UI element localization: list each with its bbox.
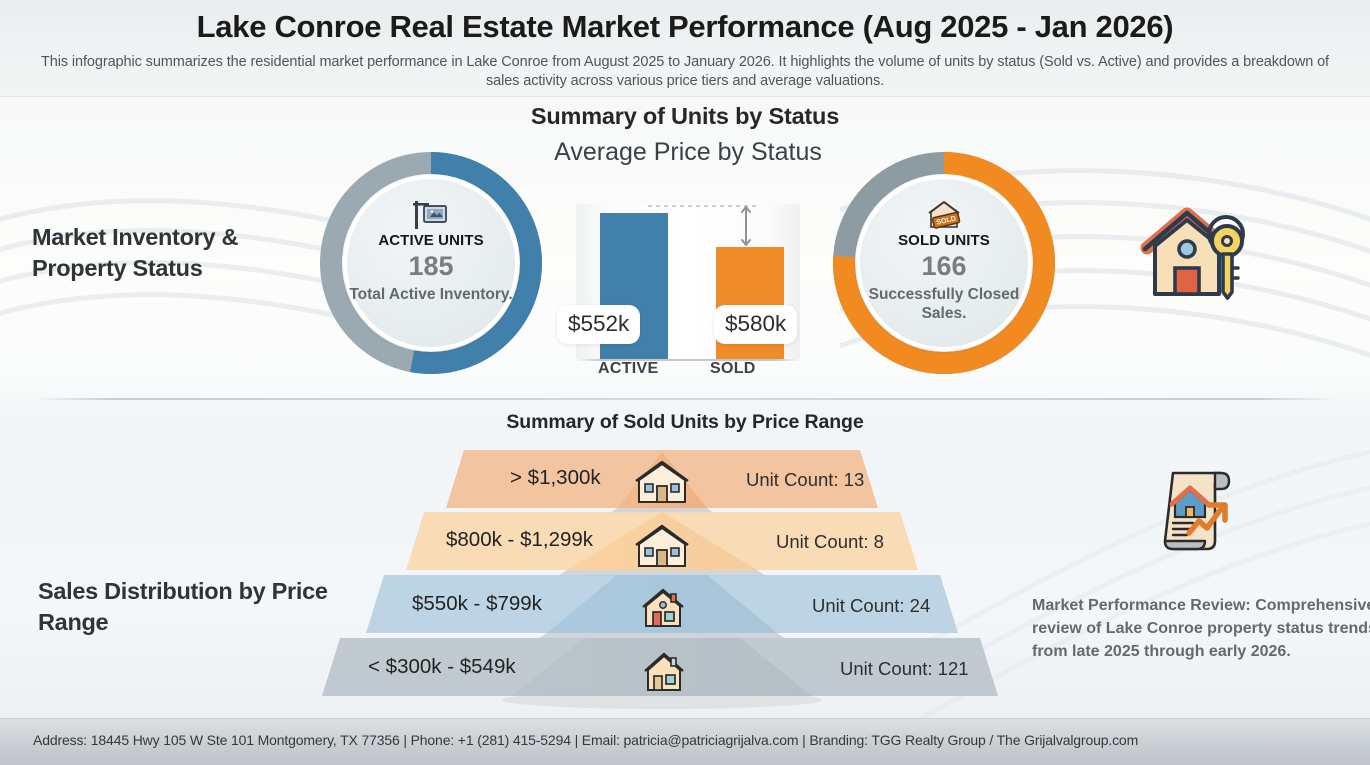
for-sale-sign-icon: [411, 199, 451, 231]
section-label-market-inventory: Market Inventory & Property Status: [32, 222, 322, 285]
sold-house-tag-icon: SOLD: [924, 199, 964, 231]
page-subtitle: This infographic summarizes the resident…: [40, 53, 1330, 92]
donut-sold-subtitle: Successfully Closed Sales.: [856, 286, 1032, 324]
pyramid-tier-3-count: Unit Count: 121: [840, 658, 969, 680]
medium-house-icon: [640, 588, 686, 630]
pyramid-tier-0: > $1,300k Unit Count: 13: [312, 450, 1012, 508]
large-house-icon-1: [633, 524, 691, 570]
donut-active-value: 185: [408, 250, 453, 283]
bar-value-label-active: $552k: [557, 305, 640, 344]
footer-bar: Address: 18445 Hwy 105 W Ste 101 Montgom…: [0, 718, 1370, 765]
pyramid-tier-1-label: $800k - $1,299k: [446, 528, 593, 552]
header-banner: Lake Conroe Real Estate Market Performan…: [0, 0, 1370, 97]
small-house-icon: [642, 652, 686, 694]
section-label-sales-distribution: Sales Distribution by Price Range: [38, 576, 328, 639]
pyramid-tier-2: $550k - $799k Unit Count: 24: [312, 575, 1012, 633]
pyramid-tier-3-label: < $300k - $549k: [368, 655, 516, 679]
pyramid-chart-sold-units-by-price-range: > $1,300k Unit Count: 13 $800k - $1,299k…: [312, 450, 1012, 712]
donut-sold-kicker: SOLD UNITS: [898, 232, 990, 249]
pyramid-tier-2-count: Unit Count: 24: [812, 595, 930, 617]
large-house-icon-0: [633, 460, 691, 506]
pyramid-tier-3: < $300k - $549k Unit Count: 121: [312, 638, 1012, 696]
pyramid-tier-0-count: Unit Count: 13: [746, 469, 864, 491]
bar-chart-title: Average Price by Status: [554, 138, 822, 167]
bar-value-label-sold: $580k: [714, 305, 797, 344]
infographic-canvas: Lake Conroe Real Estate Market Performan…: [0, 0, 1370, 765]
donut-sold-value: 166: [921, 250, 966, 283]
donut-active-center: ACTIVE UNITS 185 Total Active Inventory.: [343, 175, 519, 351]
section-title-units-by-status: Summary of Units by Status: [0, 103, 1370, 130]
donut-chart-sold-units: SOLD SOLD UNITS 166 Successfully Closed …: [833, 152, 1055, 374]
section-divider: [34, 398, 1336, 400]
pyramid-tier-1-count: Unit Count: 8: [776, 531, 884, 553]
bar-chart-average-price-by-status: Average Price by Status $552k $580k ACTI…: [562, 138, 814, 386]
page-title: Lake Conroe Real Estate Market Performan…: [0, 0, 1370, 47]
pyramid-tier-1: $800k - $1,299k Unit Count: 8: [312, 512, 1012, 570]
market-report-scroll-icon: [1151, 465, 1243, 557]
bar-difference-annotation: [648, 202, 768, 250]
bar-axis-label-sold: SOLD: [710, 360, 756, 378]
footer-contact-text: Address: 18445 Hwy 105 W Ste 101 Montgom…: [33, 732, 1138, 748]
donut-active-subtitle: Total Active Inventory.: [349, 286, 512, 305]
donut-chart-active-units: ACTIVE UNITS 185 Total Active Inventory.: [320, 152, 542, 374]
market-performance-note: Market Performance Review: Comprehensive…: [1032, 594, 1370, 663]
bar-axis-label-active: ACTIVE: [598, 360, 658, 378]
pyramid-tier-0-label: > $1,300k: [510, 466, 601, 490]
donut-sold-center: SOLD SOLD UNITS 166 Successfully Closed …: [856, 175, 1032, 351]
section-title-sold-by-price-range: Summary of Sold Units by Price Range: [0, 411, 1370, 434]
donut-active-kicker: ACTIVE UNITS: [378, 232, 483, 249]
house-with-keys-icon: [1131, 196, 1259, 306]
pyramid-tier-2-label: $550k - $799k: [412, 592, 542, 616]
header-divider: [0, 96, 1370, 97]
